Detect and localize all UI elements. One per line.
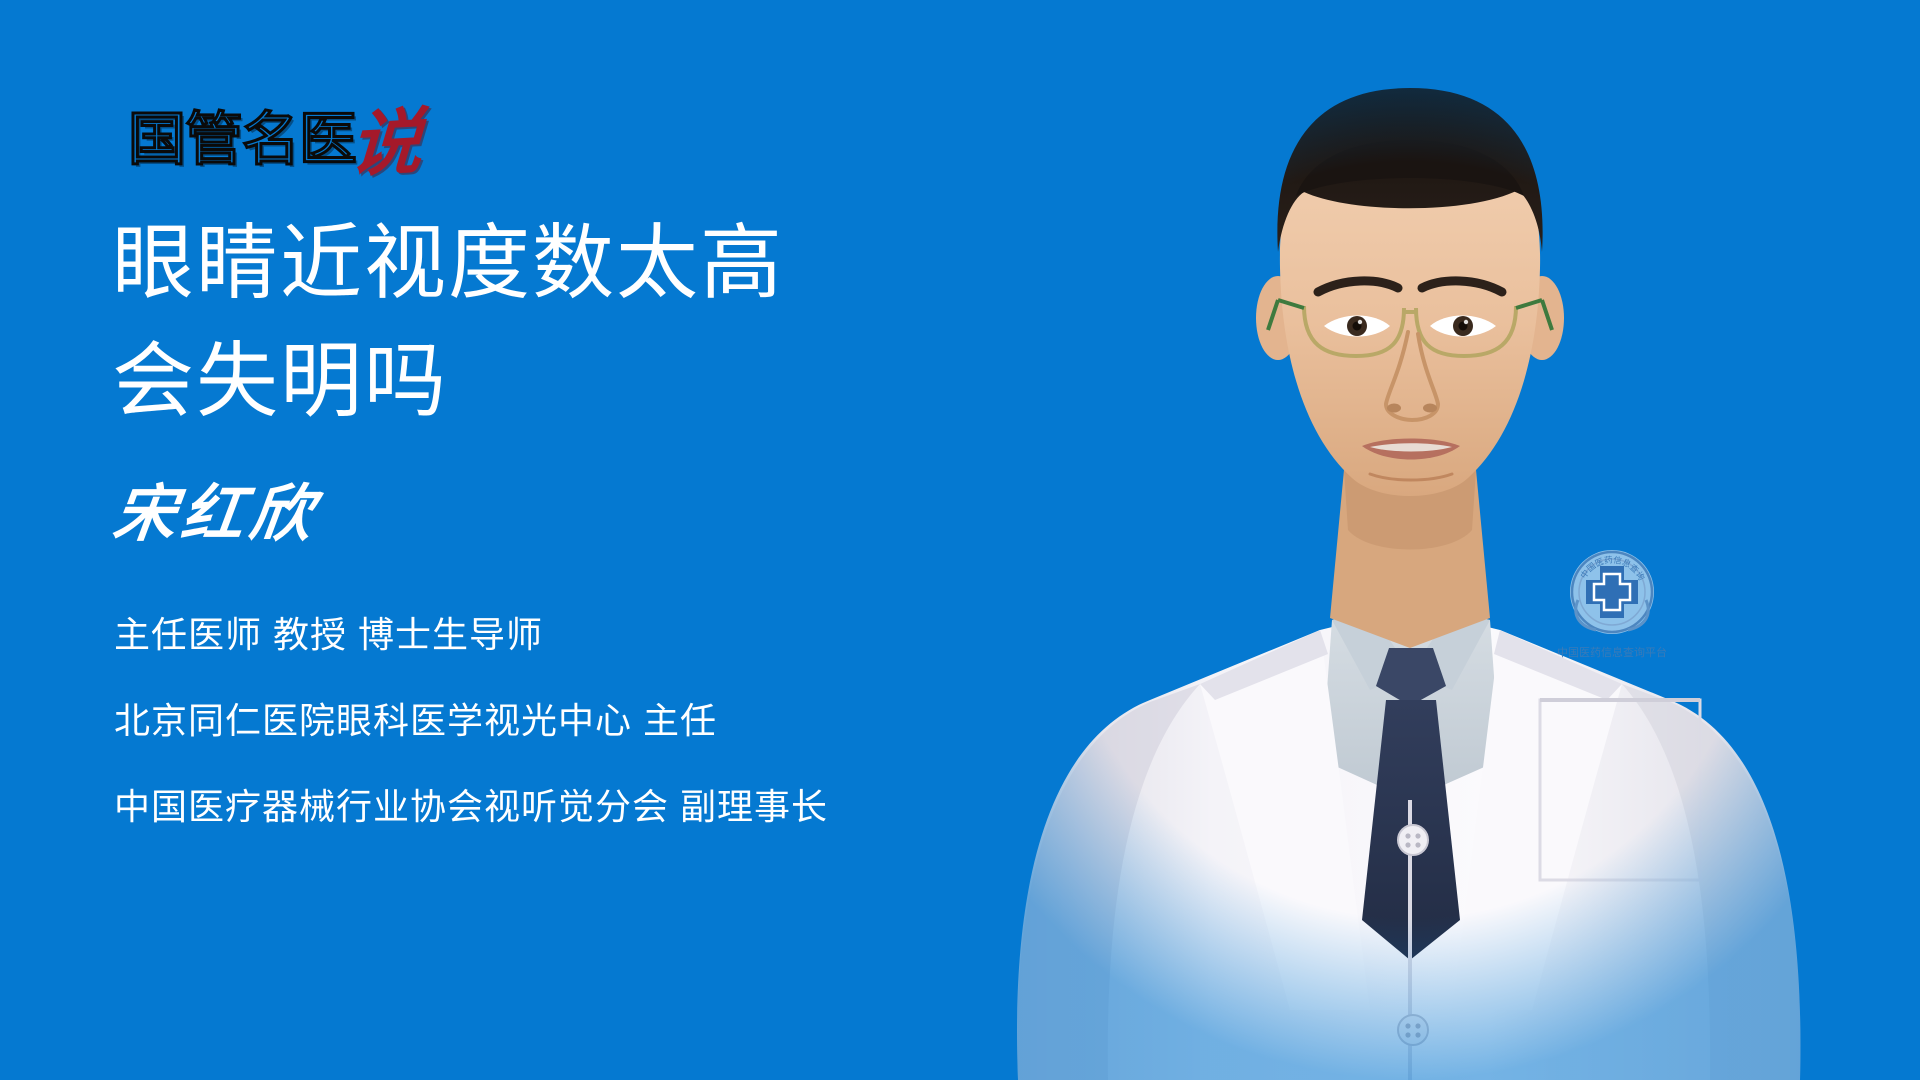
headline-line-1: 眼睛近视度数太高 [112, 205, 784, 323]
doctor-credentials: 主任医师 教授 博士生导师 北京同仁医院眼科医学视光中心 主任 中国医疗器械行业… [114, 592, 828, 850]
video-cover-slide: 国管名医 说 眼睛近视度数太高 会失明吗 宋红欣 主任医师 教授 博士生导师 北… [0, 0, 1920, 1080]
credential-line-2: 北京同仁医院眼科医学视光中心 主任 [114, 678, 828, 764]
brand-logo: 国管名医 说 [128, 88, 422, 168]
doctor-portrait-photo: 中国医药信息查询平台 中国医药信息查询平台 [900, 0, 1920, 1080]
credential-line-3: 中国医疗器械行业协会视听觉分会 副理事长 [114, 764, 828, 850]
doctor-name: 宋红欣 [110, 478, 323, 550]
credential-line-1: 主任医师 教授 博士生导师 [114, 592, 828, 678]
brand-logo-main-text: 国管名医 [128, 110, 356, 168]
headline: 眼睛近视度数太高 会失明吗 [112, 205, 784, 441]
portrait-vignette [900, 0, 1920, 1080]
brand-logo-accent-text: 说 [348, 110, 424, 176]
headline-line-2: 会失明吗 [112, 323, 784, 441]
